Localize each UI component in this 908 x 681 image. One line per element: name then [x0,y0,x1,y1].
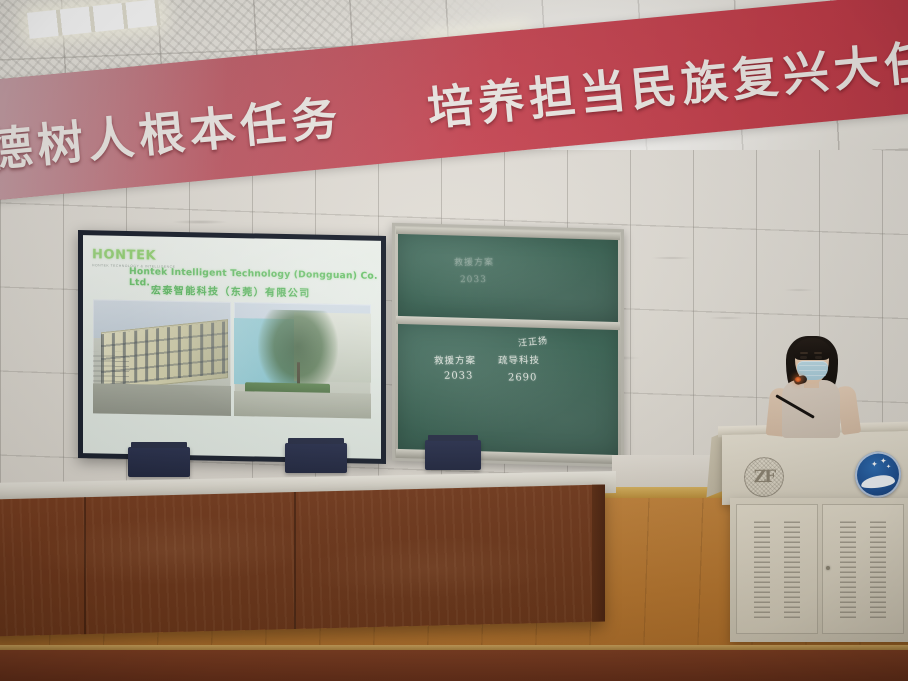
speaker-eye-right [815,356,822,359]
speaker-brow-left [800,352,808,354]
blackboard: 救援方案 2033 汪正扬 救援方案 2033 疏导科技 2690 [392,223,624,467]
table-panel-seam [84,497,86,634]
chalk-note-1: 救援方案 [434,352,476,366]
cabinet-door-right[interactable] [822,504,904,634]
microphone-led-indicator [795,377,801,382]
chalk-note-2: 疏导科技 [498,352,540,366]
slide-photo-courtyard [234,302,372,419]
slide-photo-factory-building [93,299,231,416]
projection-screen: HONTEK HONTEK TECHNOLOGY & INTELLIGENCE … [78,230,386,464]
table-panel-seam [294,492,296,629]
chair [128,447,190,477]
slide-chinese-title: 宏泰智能科技（东莞）有限公司 [151,281,311,299]
lecture-hall-photo: 德树人根本任务 培养担当民族复兴大任的时代新人 HONTEK HONTEK TE… [0,0,908,681]
podium-front-panel: ZF ✦ ✦ ✦ [722,431,908,505]
chalk-number-1: 2033 [444,371,474,382]
speaker-eye-left [800,356,807,359]
stage-front-trim [0,650,908,681]
podium: ZF ✦ ✦ ✦ [710,424,908,650]
presentation-slide: HONTEK HONTEK TECHNOLOGY & INTELLIGENCE … [83,235,381,459]
slide-photo-row [93,299,371,418]
dove-shape [861,474,896,490]
chalk-number-2: 2690 [508,372,538,383]
speaker-torso [782,380,840,438]
conference-table-front [0,484,604,636]
chalk-signature: 汪正扬 [517,333,548,349]
seal-monogram: ZF [744,457,784,498]
blue-dove-emblem: ✦ ✦ ✦ [855,451,901,498]
speaker-brow-right [814,352,822,354]
chair [285,443,347,473]
podium-cabinet [730,498,908,642]
cabinet-door-left[interactable] [736,504,818,634]
table-right-side [592,484,605,621]
chair [425,440,481,470]
school-seal-emblem: ZF [744,457,784,498]
speaker-person [764,336,860,436]
table-wood-grain [0,484,604,636]
chalk-note-faint: 救援方案 [454,255,494,268]
chalk-note-faint-number: 2033 [460,275,487,285]
logo-wordmark: HONTEK [92,247,175,264]
blackboard-panel-top: 救援方案 2033 [398,231,618,323]
cabinet-knob[interactable] [826,566,830,570]
